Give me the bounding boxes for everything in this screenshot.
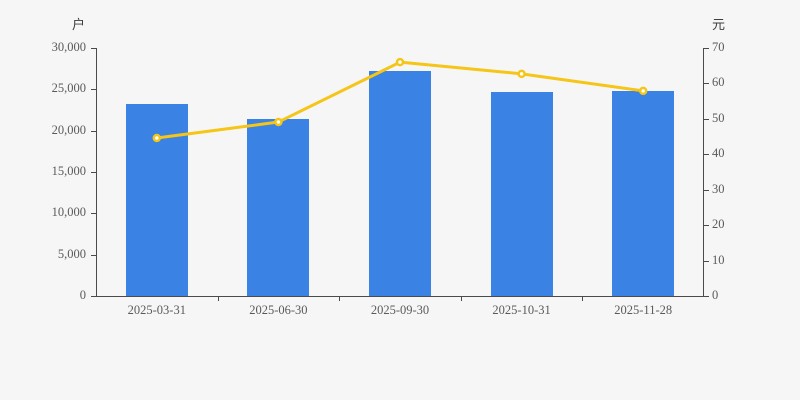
left-axis-line <box>96 48 97 297</box>
left-axis-tick-label: 5,000 <box>58 247 86 262</box>
right-axis-tick-label: 70 <box>712 40 725 55</box>
right-axis-tick <box>704 154 709 155</box>
x-axis-category-label: 2025-06-30 <box>218 303 340 318</box>
right-axis-tick <box>704 48 709 49</box>
left-axis-tick <box>91 172 96 173</box>
bar-2025-03-31[interactable] <box>126 104 188 296</box>
right-axis-tick <box>704 225 709 226</box>
x-axis-tick <box>339 296 340 301</box>
right-axis-tick <box>704 261 709 262</box>
left-axis-tick <box>91 131 96 132</box>
left-axis-tick-label: 15,000 <box>52 164 86 179</box>
left-axis-tick-label: 10,000 <box>52 205 86 220</box>
right-axis-tick-label: 30 <box>712 182 725 197</box>
bar-2025-11-28[interactable] <box>612 91 674 296</box>
right-axis-tick-label: 0 <box>712 288 718 303</box>
right-axis-tick <box>704 190 709 191</box>
x-axis-line <box>96 296 704 297</box>
right-axis-tick-label: 10 <box>712 253 725 268</box>
right-axis-tick-label: 50 <box>712 111 725 126</box>
left-axis-tick-label: 20,000 <box>52 123 86 138</box>
left-axis-tick <box>91 255 96 256</box>
left-axis-tick <box>91 89 96 90</box>
left-axis-tick <box>91 213 96 214</box>
x-axis-category-label: 2025-10-31 <box>461 303 583 318</box>
right-axis-tick <box>704 296 709 297</box>
right-axis-unit-label: 元 <box>712 14 725 33</box>
bar-2025-06-30[interactable] <box>247 119 309 296</box>
right-axis-tick-label: 20 <box>712 217 725 232</box>
line-marker-2025-10-31[interactable] <box>519 71 525 77</box>
right-axis-tick <box>704 119 709 120</box>
x-axis-category-label: 2025-03-31 <box>96 303 218 318</box>
x-axis-tick <box>461 296 462 301</box>
x-axis-category-label: 2025-11-28 <box>582 303 704 318</box>
left-axis-tick <box>91 296 96 297</box>
right-axis-tick-label: 60 <box>712 75 725 90</box>
x-axis-tick <box>218 296 219 301</box>
x-axis-category-label: 2025-09-30 <box>339 303 461 318</box>
left-axis-tick-label: 0 <box>80 288 86 303</box>
x-axis-tick <box>582 296 583 301</box>
left-axis-tick <box>91 48 96 49</box>
bar-2025-10-31[interactable] <box>491 92 553 296</box>
left-axis-unit-label: 户 <box>72 14 85 33</box>
left-axis-tick-label: 30,000 <box>52 40 86 55</box>
right-axis-tick-label: 40 <box>712 146 725 161</box>
chart-container: 户 元 05,00010,00015,00020,00025,00030,000… <box>0 0 800 400</box>
left-axis-tick-label: 25,000 <box>52 81 86 96</box>
line-marker-2025-09-30[interactable] <box>397 59 403 65</box>
bar-2025-09-30[interactable] <box>369 71 431 296</box>
right-axis-tick <box>704 83 709 84</box>
